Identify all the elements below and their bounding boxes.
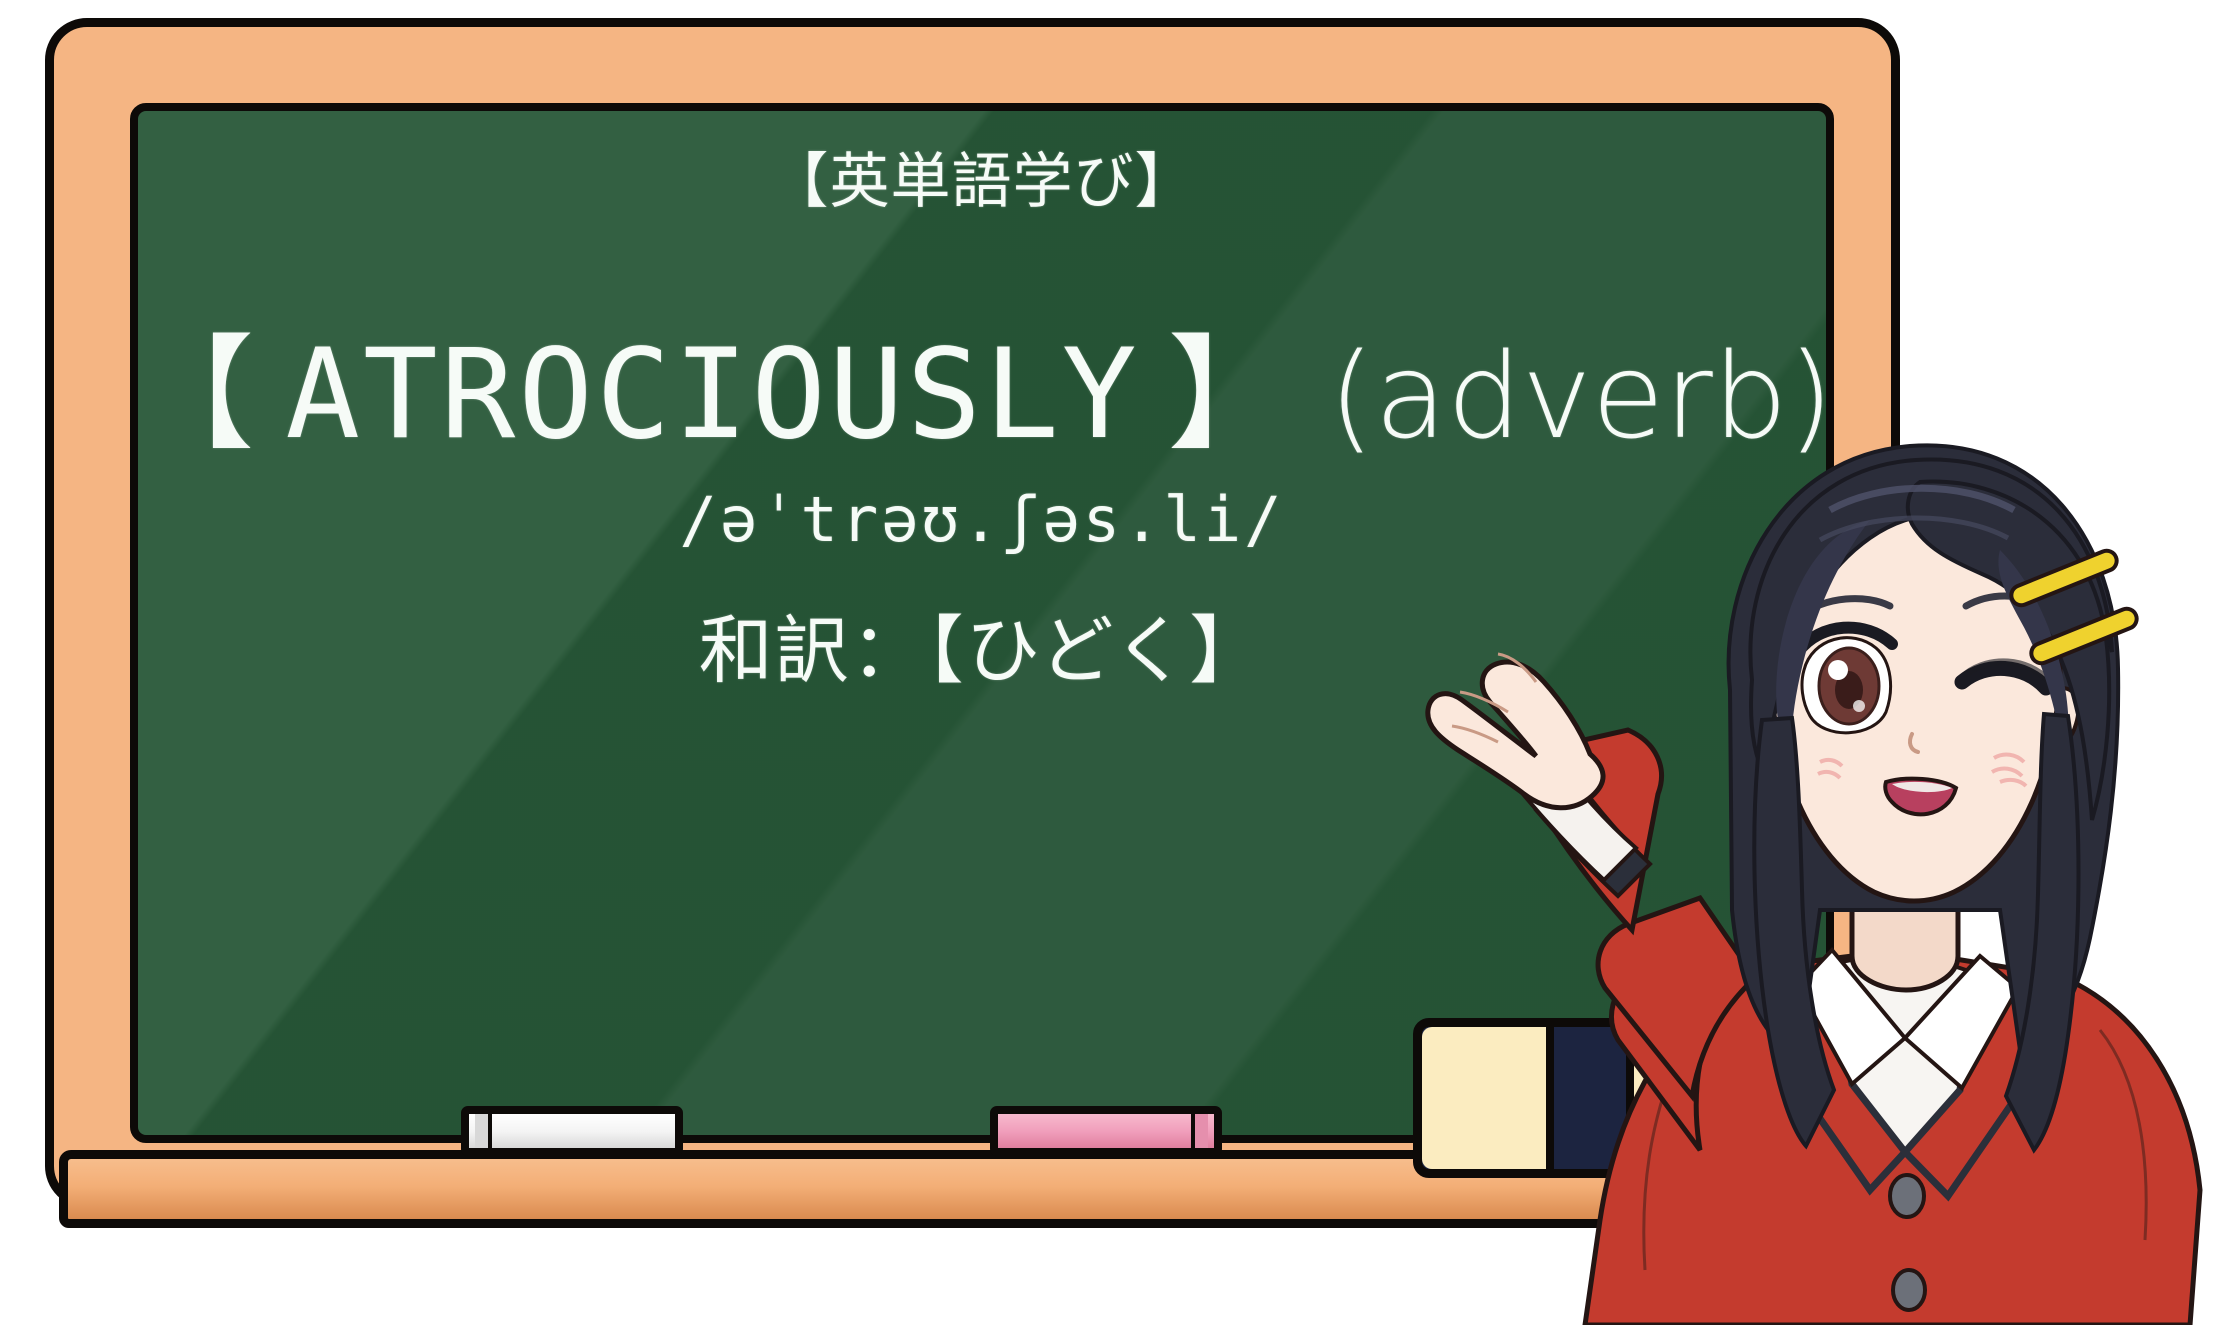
word-bracket-close: 】 [1168, 323, 1295, 467]
board-header-text: 【英単語学び】 [138, 133, 1826, 220]
chalk-text-group: 【英単語学び】 【ATROCIOUSLY】 (adverb) /əˈtrəʊ.ʃ… [138, 111, 1826, 1135]
blazer-button-1 [1890, 1175, 1924, 1217]
japanese-translation: 和訳：【ひどく】 [138, 591, 1826, 698]
pronunciation-ipa: /əˈtrəʊ.ʃəs.li/ [138, 483, 1826, 556]
flashcard-canvas: 【英単語学び】 【ATROCIOUSLY】 (adverb) /əˈtrəʊ.ʃ… [0, 0, 2218, 1322]
part-of-speech: (adverb) [1329, 327, 1834, 465]
word-bracket-open: 【 [130, 323, 257, 467]
chalkboard: 【英単語学び】 【ATROCIOUSLY】 (adverb) /əˈtrəʊ.ʃ… [45, 18, 1955, 1233]
chalkboard-frame: 【英単語学び】 【ATROCIOUSLY】 (adverb) /əˈtrəʊ.ʃ… [45, 18, 1900, 1208]
word-text: ATROCIOUSLY [285, 323, 1139, 467]
blazer-button-2 [1893, 1270, 1925, 1310]
chalkboard-surface: 【英単語学び】 【ATROCIOUSLY】 (adverb) /əˈtrəʊ.ʃ… [130, 103, 1834, 1143]
vocabulary-word: 【ATROCIOUSLY】 [130, 293, 1294, 473]
word-line: 【ATROCIOUSLY】 (adverb) [138, 293, 1826, 473]
